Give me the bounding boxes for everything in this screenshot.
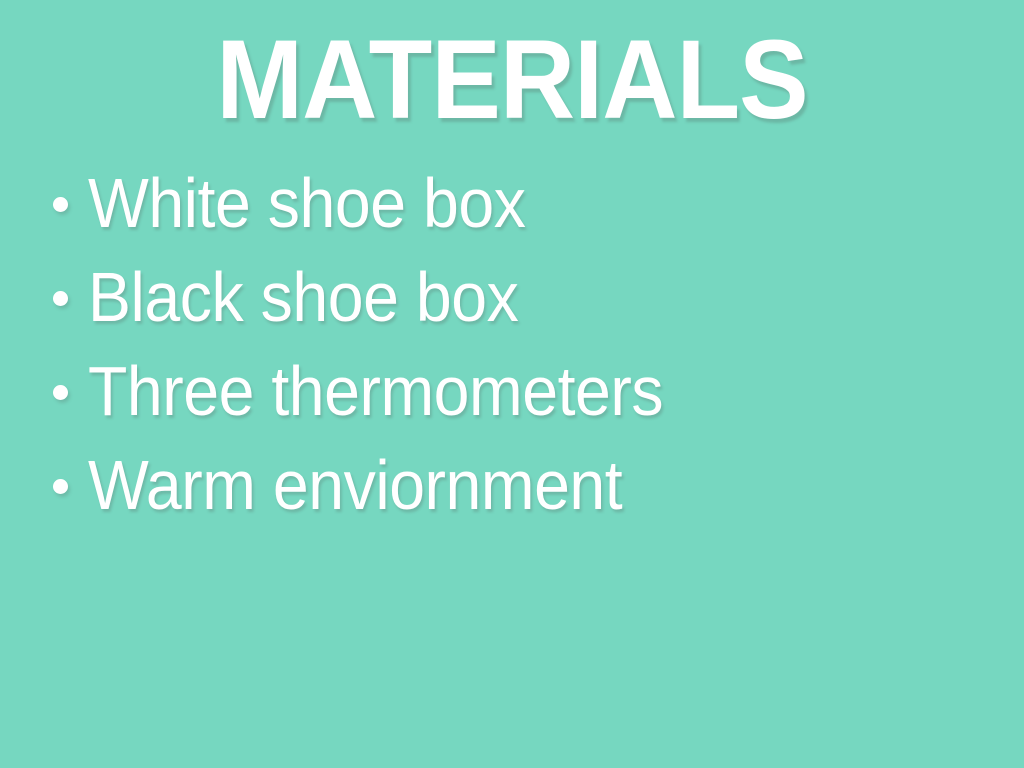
list-item: Black shoe box (44, 250, 1004, 344)
bullet-dot-icon (44, 250, 88, 344)
bullet-dot-icon (44, 438, 88, 532)
bullet-dot-icon (44, 156, 88, 250)
list-item-label: Three thermometers (88, 344, 663, 438)
page-title: MATERIALS (36, 24, 988, 136)
bullet-dot-icon (44, 344, 88, 438)
list-item-label: Warm enviornment (88, 438, 622, 532)
list-item: Warm enviornment (44, 438, 1004, 532)
list-item: White shoe box (44, 156, 1004, 250)
list-item-label: White shoe box (88, 156, 525, 250)
presentation-slide: MATERIALS White shoe box Black shoe box … (0, 0, 1024, 768)
materials-bullet-list: White shoe box Black shoe box Three ther… (44, 156, 1004, 532)
list-item-label: Black shoe box (88, 250, 518, 344)
list-item: Three thermometers (44, 344, 1004, 438)
